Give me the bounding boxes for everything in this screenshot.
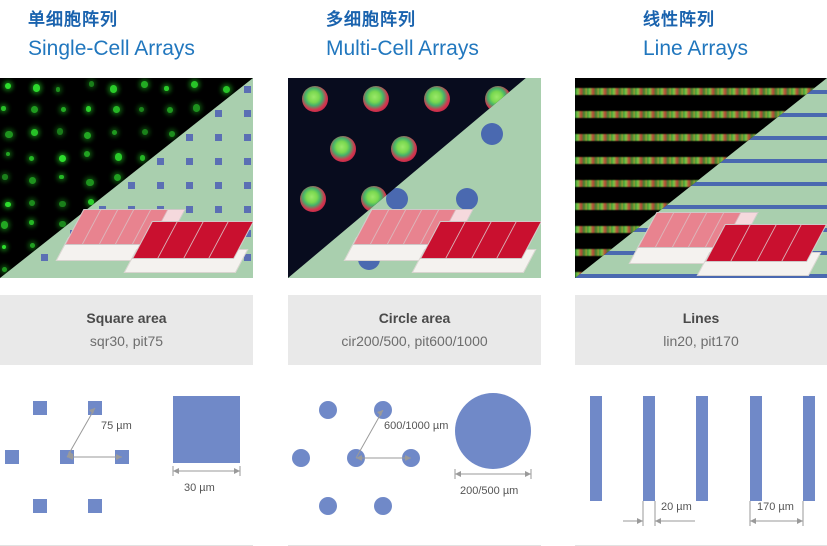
fluorescent-cell	[86, 106, 91, 111]
size-dimension-line	[455, 469, 531, 479]
fluorescent-cell	[164, 86, 168, 90]
diagram-line-array: 20 µm 170 µm	[575, 376, 827, 546]
chamber-slide-illustration	[633, 196, 823, 276]
fluorescent-cell	[112, 130, 117, 135]
fluorescent-cell	[193, 104, 200, 111]
width-arrow-heads	[637, 518, 661, 524]
caption-subtitle: cir200/500, pit600/1000	[341, 330, 487, 352]
fluorescent-cell	[57, 128, 63, 134]
pitch-arrows	[67, 408, 122, 457]
heading-chinese: 线性阵列	[643, 8, 827, 32]
heading-chinese: 单细胞阵列	[28, 8, 253, 32]
chamber-slide-illustration	[348, 193, 538, 273]
heading-chinese: 多细胞阵列	[326, 8, 541, 32]
pitch-label: 75 µm	[101, 420, 132, 432]
pattern-square	[215, 158, 222, 165]
fluorescent-cell	[5, 202, 11, 208]
cell-colony	[302, 86, 328, 112]
micrograph-multi-cell	[288, 78, 541, 278]
fluorescent-cell	[59, 175, 64, 180]
cell-colony	[363, 86, 389, 112]
column-heading-single-cell: 单细胞阵列 Single-Cell Arrays	[0, 0, 253, 78]
fluorescent-cell	[31, 106, 38, 113]
fluorescent-cell	[114, 174, 121, 181]
diagram-circle-array: 600/1000 µm 200/500 µm	[288, 376, 541, 546]
pattern-circle	[481, 123, 503, 145]
cell-colony	[391, 136, 417, 162]
size-label: 30 µm	[184, 482, 215, 494]
fluorescent-cell	[61, 107, 66, 112]
caption-box-single-cell: Square area sqr30, pit75	[0, 295, 253, 365]
fluorescent-cell	[115, 153, 123, 161]
chamber-slide-illustration	[60, 193, 250, 273]
fluorescent-cell	[113, 106, 120, 113]
size-label: 20 µm	[661, 501, 692, 513]
caption-title: Lines	[683, 308, 720, 328]
pattern-square	[244, 158, 251, 165]
heading-english: Multi-Cell Arrays	[326, 34, 541, 64]
heading-english: Single-Cell Arrays	[28, 34, 253, 64]
pattern-square	[186, 134, 193, 141]
pattern-square	[215, 110, 222, 117]
fluorescent-cell	[29, 200, 36, 207]
fluorescent-cell	[191, 81, 198, 88]
fluorescent-cell	[84, 132, 91, 139]
caption-box-multi-cell: Circle area cir200/500, pit600/1000	[288, 295, 541, 365]
caption-subtitle: sqr30, pit75	[90, 330, 163, 352]
fluorescent-cell	[141, 81, 147, 87]
caption-subtitle: lin20, pit170	[663, 330, 739, 352]
line-array-svg: 20 µm 170 µm	[575, 376, 827, 542]
fluorescent-cell	[31, 129, 38, 136]
diagram-square-array: 75 µm 30 µm	[0, 376, 253, 546]
pattern-square	[244, 86, 251, 93]
fluorescent-cell	[29, 220, 34, 225]
feature-circle	[455, 393, 531, 469]
pattern-square	[186, 182, 193, 189]
cell-colony	[424, 86, 450, 112]
size-label: 200/500 µm	[460, 485, 518, 497]
pattern-square	[41, 254, 48, 261]
fluorescent-cell	[2, 174, 7, 179]
pitch-label: 600/1000 µm	[384, 420, 448, 432]
pattern-square	[128, 182, 135, 189]
fluorescent-cell	[29, 156, 34, 161]
heading-english: Line Arrays	[643, 34, 827, 64]
fluorescent-cell	[1, 106, 6, 111]
pattern-square	[215, 134, 222, 141]
fluorescent-cell	[110, 85, 118, 93]
pattern-square	[157, 158, 164, 165]
fluorescent-cell	[33, 84, 40, 91]
fluorescent-cell	[167, 107, 173, 113]
micrograph-line	[575, 78, 827, 278]
fluorescent-cell	[1, 221, 8, 228]
square-array-svg: 75 µm 30 µm	[0, 376, 253, 542]
pattern-square	[186, 158, 193, 165]
pattern-square	[215, 182, 222, 189]
pattern-square	[157, 182, 164, 189]
fluorescent-cell	[2, 267, 7, 272]
fluorescent-cell	[30, 243, 35, 248]
fluorescent-cell	[169, 131, 175, 137]
cell-colony	[300, 186, 326, 212]
arrow-heads	[67, 408, 122, 460]
cell-colony	[330, 136, 356, 162]
circle-array-svg: 600/1000 µm 200/500 µm	[288, 376, 541, 542]
column-heading-multi-cell: 多细胞阵列 Multi-Cell Arrays	[288, 0, 541, 78]
pattern-square	[244, 110, 251, 117]
micrograph-single-cell	[0, 78, 253, 278]
column-heading-line: 线性阵列 Line Arrays	[575, 0, 827, 78]
size-dimension-line	[173, 466, 240, 476]
fluorescent-cell	[140, 155, 146, 161]
cell-line-stripe	[575, 88, 827, 95]
pitch-label: 170 µm	[757, 501, 794, 513]
pattern-square	[244, 182, 251, 189]
pattern-square	[244, 134, 251, 141]
feature-square	[173, 396, 240, 463]
caption-title: Circle area	[379, 308, 451, 328]
line-bars	[590, 396, 815, 501]
caption-box-line: Lines lin20, pit170	[575, 295, 827, 365]
array-comparison-grid: 单细胞阵列 Single-Cell Arrays 多细胞阵列 Multi-Cel…	[0, 0, 827, 546]
fluorescent-cell	[56, 87, 61, 92]
caption-title: Square area	[86, 308, 166, 328]
